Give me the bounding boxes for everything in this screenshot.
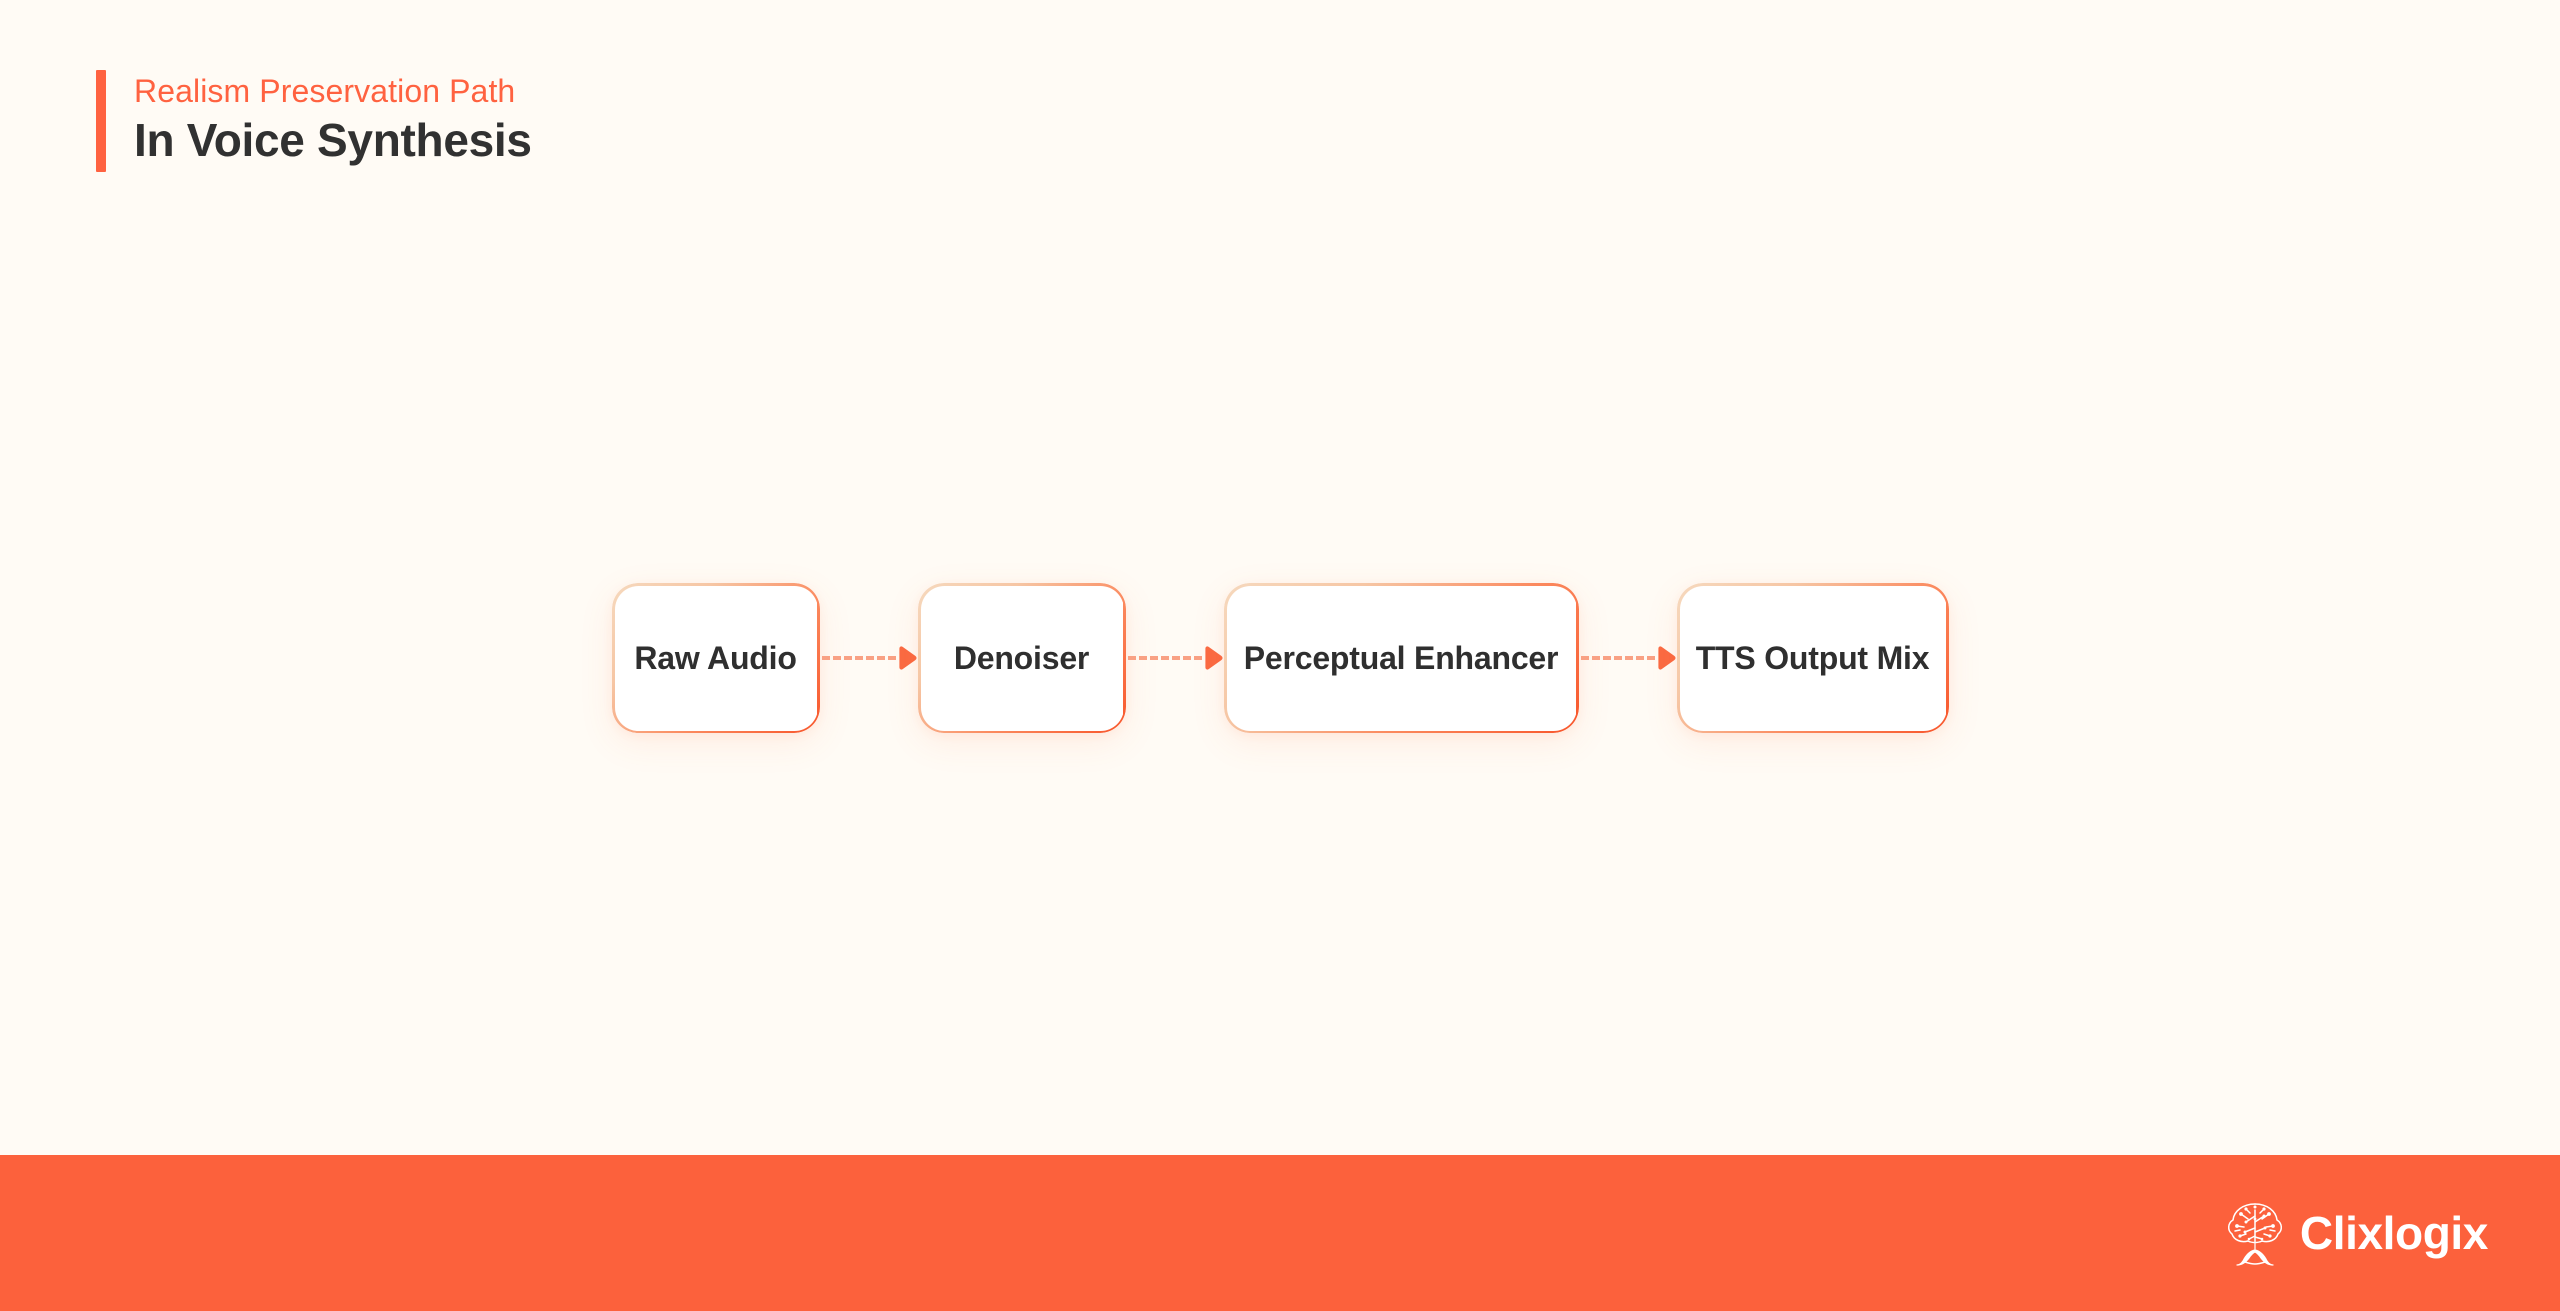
flow-node-label: Raw Audio [634, 640, 796, 677]
brand-lockup: Clixlogix [2224, 1198, 2488, 1268]
flow-node-label: TTS Output Mix [1696, 640, 1930, 677]
page-title: In Voice Synthesis [134, 111, 532, 170]
page-header: Realism Preservation Path In Voice Synth… [96, 70, 532, 172]
dashed-line [822, 656, 896, 660]
flow-connector-3 [1579, 647, 1677, 669]
header-text-group: Realism Preservation Path In Voice Synth… [134, 70, 532, 172]
flow-connector-1 [820, 647, 918, 669]
process-flow-diagram: Raw Audio Denoiser Perceptual Enhancer T… [0, 583, 2560, 733]
dashed-line [1128, 656, 1202, 660]
page-eyebrow: Realism Preservation Path [134, 72, 532, 111]
title-accent-bar [96, 70, 106, 172]
tree-circuit-logo-icon [2224, 1198, 2286, 1268]
flow-connector-2 [1126, 647, 1224, 669]
brand-name: Clixlogix [2300, 1210, 2488, 1256]
page-footer: Clixlogix [0, 1155, 2560, 1311]
dashed-line [1581, 656, 1655, 660]
flow-node-denoiser[interactable]: Denoiser [918, 583, 1126, 733]
arrow-right-icon [896, 646, 918, 670]
flow-node-tts-output-mix[interactable]: TTS Output Mix [1677, 583, 1949, 733]
arrow-right-icon [1655, 646, 1677, 670]
flow-node-label: Denoiser [954, 640, 1089, 677]
flow-node-raw-audio[interactable]: Raw Audio [612, 583, 820, 733]
arrow-right-icon [1202, 646, 1224, 670]
flow-node-perceptual-enhancer[interactable]: Perceptual Enhancer [1224, 583, 1579, 733]
flow-node-label: Perceptual Enhancer [1244, 640, 1559, 677]
